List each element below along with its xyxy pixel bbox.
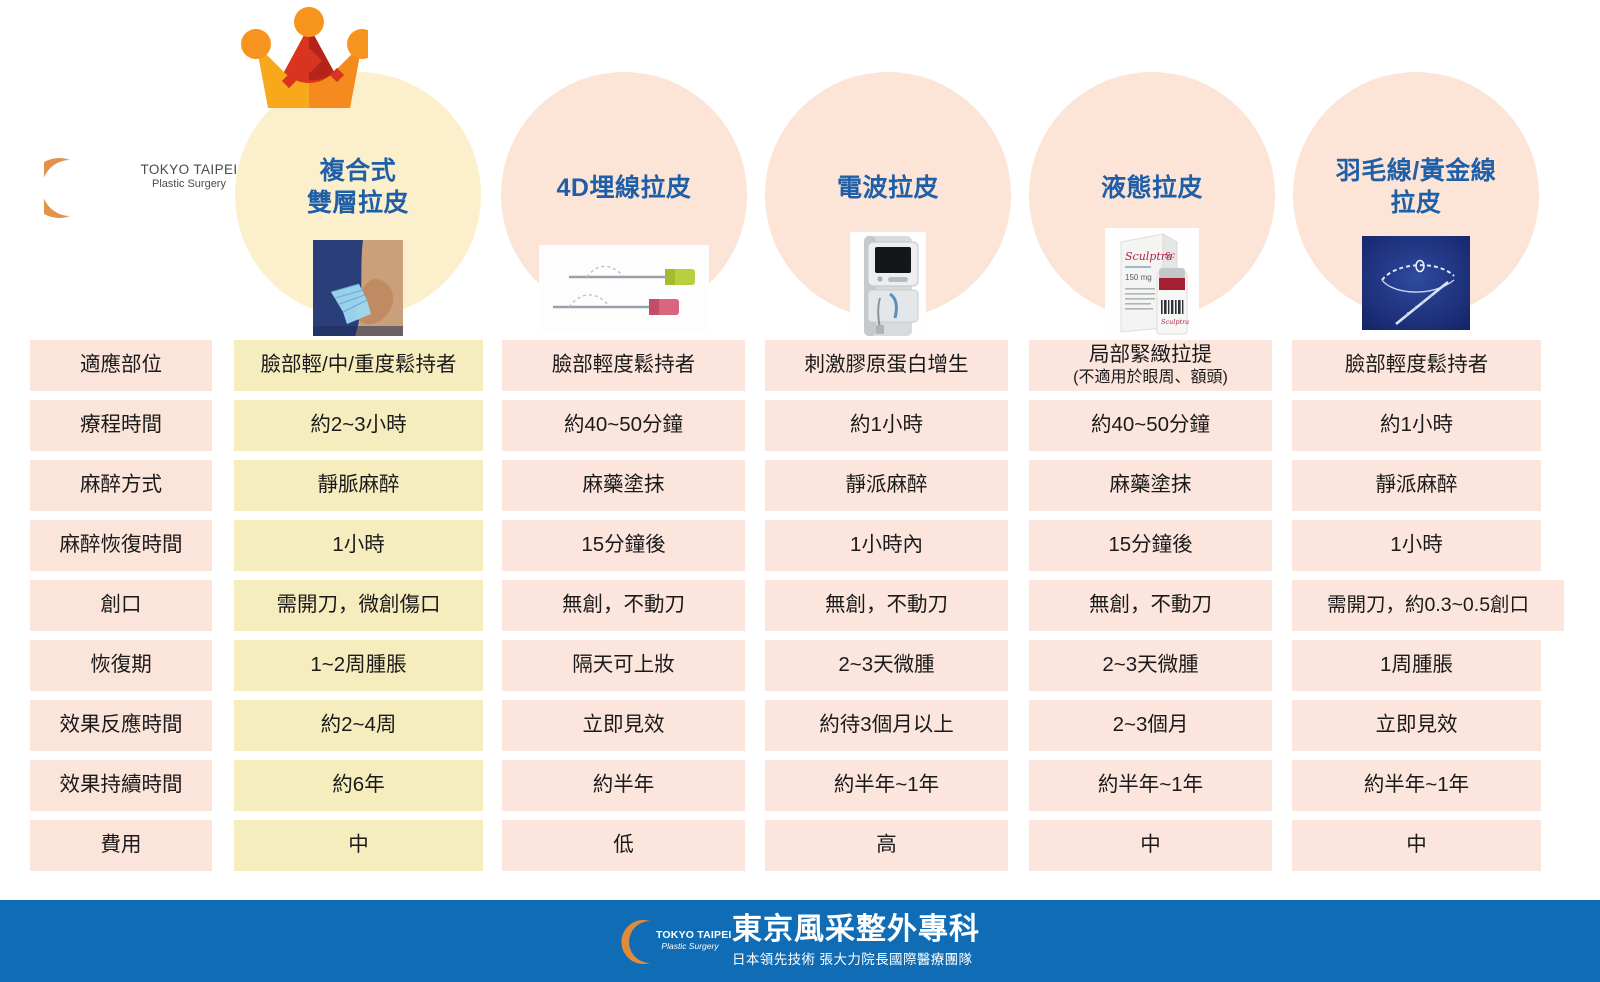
column-title-line-1: 複合式 bbox=[233, 155, 483, 187]
cell-r0-c3-main: 局部緊緻拉提 bbox=[1089, 343, 1212, 367]
cell-r7-c0: 約6年 bbox=[234, 760, 483, 811]
column-thumbnail-rf-machine-photo bbox=[850, 232, 926, 336]
column-title-line-1: 電波拉皮 bbox=[763, 172, 1013, 204]
row-label: 麻醉恢復時間 bbox=[30, 520, 212, 571]
column-header-4d-thread-lift[interactable]: 4D埋線拉皮 bbox=[492, 0, 756, 336]
cell-r5-c0: 1~2周腫脹 bbox=[234, 640, 483, 691]
table-row: 麻醉方式 靜脈麻醉 麻藥塗抹 靜派麻醉 麻藥塗抹 靜派麻醉 bbox=[0, 460, 1600, 520]
cell-r2-c0: 靜脈麻醉 bbox=[234, 460, 483, 511]
footer-title: 東京風采整外專科 bbox=[732, 914, 980, 946]
column-title: 4D埋線拉皮 bbox=[499, 172, 749, 204]
footer-logo-line1: TOKYO TAIPEI bbox=[656, 929, 724, 941]
cell-r8-c0: 中 bbox=[234, 820, 483, 871]
column-title: 複合式 雙層拉皮 bbox=[233, 155, 483, 219]
cell-r1-c1: 約40~50分鐘 bbox=[502, 400, 745, 451]
cell-r7-c2: 約半年~1年 bbox=[765, 760, 1008, 811]
row-label: 麻醉方式 bbox=[30, 460, 212, 511]
cell-r2-c1: 麻藥塗抹 bbox=[502, 460, 745, 511]
footer-logo: TOKYO TAIPEI Plastic Surgery bbox=[620, 911, 724, 971]
cell-r6-c4: 立即見效 bbox=[1292, 700, 1541, 751]
column-thumbnail-barbed-thread-photo bbox=[1362, 236, 1470, 330]
row-label: 適應部位 bbox=[30, 340, 212, 391]
cell-r0-c2: 刺激膠原蛋白增生 bbox=[765, 340, 1008, 391]
cell-r5-c4: 1周腫脹 bbox=[1292, 640, 1541, 691]
column-title: 電波拉皮 bbox=[763, 172, 1013, 204]
cell-r0-c4: 臉部輕度鬆持者 bbox=[1292, 340, 1541, 391]
cell-r0-c0: 臉部輕/中/重度鬆持者 bbox=[234, 340, 483, 391]
column-title-line-1: 液態拉皮 bbox=[1027, 172, 1277, 204]
cell-r6-c3: 2~3個月 bbox=[1029, 700, 1272, 751]
column-thumbnail-thread-needles-photo bbox=[539, 245, 709, 330]
cell-r8-c2: 高 bbox=[765, 820, 1008, 871]
column-title-line-2: 雙層拉皮 bbox=[233, 187, 483, 219]
column-title: 液態拉皮 bbox=[1027, 172, 1277, 204]
table-row: 費用 中 低 高 中 中 bbox=[0, 820, 1600, 880]
cell-r7-c4: 約半年~1年 bbox=[1292, 760, 1541, 811]
cell-r1-c4: 約1小時 bbox=[1292, 400, 1541, 451]
cell-r3-c3: 15分鐘後 bbox=[1029, 520, 1272, 571]
cell-r5-c3: 2~3天微腫 bbox=[1029, 640, 1272, 691]
footer-content: TOKYO TAIPEI Plastic Surgery 東京風采整外專科 日本… bbox=[620, 908, 980, 974]
clinic-logo: TOKYO TAIPEI Plastic Surgery bbox=[44, 140, 244, 236]
cell-r4-c1: 無創，不動刀 bbox=[502, 580, 745, 631]
cell-r3-c4: 1小時 bbox=[1292, 520, 1541, 571]
cell-r2-c4: 靜派麻醉 bbox=[1292, 460, 1541, 511]
cell-r2-c3: 麻藥塗抹 bbox=[1029, 460, 1272, 511]
cell-r6-c2: 約待3個月以上 bbox=[765, 700, 1008, 751]
table-row: 療程時間 約2~3小時 約40~50分鐘 約1小時 約40~50分鐘 約1小時 bbox=[0, 400, 1600, 460]
column-title: 羽毛線/黃金線 拉皮 bbox=[1291, 155, 1541, 219]
cell-r8-c3: 中 bbox=[1029, 820, 1272, 871]
column-title-line-1: 羽毛線/黃金線 bbox=[1291, 155, 1541, 187]
cell-r8-c1: 低 bbox=[502, 820, 745, 871]
row-label: 效果反應時間 bbox=[30, 700, 212, 751]
cell-r1-c2: 約1小時 bbox=[765, 400, 1008, 451]
footer-logo-text: TOKYO TAIPEI Plastic Surgery bbox=[656, 929, 724, 951]
header-section: TOKYO TAIPEI Plastic Surgery 複合式 雙層 bbox=[0, 0, 1600, 336]
table-row: 適應部位 臉部輕/中/重度鬆持者 臉部輕度鬆持者 刺激膠原蛋白增生 局部緊緻拉提… bbox=[0, 340, 1600, 400]
column-header-compound-double-layer-facelift[interactable]: 複合式 雙層拉皮 bbox=[226, 0, 490, 336]
table-row: 創口 需開刀，微創傷口 無創，不動刀 無創，不動刀 無創，不動刀 需開刀，約0.… bbox=[0, 580, 1600, 640]
cell-r3-c1: 15分鐘後 bbox=[502, 520, 745, 571]
cell-r6-c1: 立即見效 bbox=[502, 700, 745, 751]
cell-r0-c1: 臉部輕度鬆持者 bbox=[502, 340, 745, 391]
comparison-table: 適應部位 臉部輕/中/重度鬆持者 臉部輕度鬆持者 刺激膠原蛋白增生 局部緊緻拉提… bbox=[0, 340, 1600, 880]
row-label: 效果持續時間 bbox=[30, 760, 212, 811]
column-header-feather-gold-thread-lift[interactable]: 羽毛線/黃金線 拉皮 bbox=[1284, 0, 1548, 336]
cell-r0-c3-sub: (不適用於眼周、額頭) bbox=[1073, 369, 1228, 388]
svg-text:150 mg: 150 mg bbox=[1125, 273, 1152, 282]
svg-text:Sculptra: Sculptra bbox=[1161, 318, 1189, 326]
cell-r0-c3: 局部緊緻拉提 (不適用於眼周、額頭) bbox=[1029, 340, 1272, 391]
footer-subtitle: 日本領先技術 張大力院長國際醫療團隊 bbox=[732, 948, 980, 968]
cell-r5-c2: 2~3天微腫 bbox=[765, 640, 1008, 691]
infographic-page: TOKYO TAIPEI Plastic Surgery 複合式 雙層 bbox=[0, 0, 1600, 982]
table-row: 恢復期 1~2周腫脹 隔天可上妝 2~3天微腫 2~3天微腫 1周腫脹 bbox=[0, 640, 1600, 700]
row-label: 費用 bbox=[30, 820, 212, 871]
row-label: 恢復期 bbox=[30, 640, 212, 691]
cell-r4-c2: 無創，不動刀 bbox=[765, 580, 1008, 631]
cell-r4-c4: 需開刀，約0.3~0.5創口 bbox=[1292, 580, 1564, 631]
row-label: 療程時間 bbox=[30, 400, 212, 451]
cell-r7-c1: 約半年 bbox=[502, 760, 745, 811]
footer-text-block: 東京風采整外專科 日本領先技術 張大力院長國際醫療團隊 bbox=[732, 914, 980, 969]
double-crescent-logo-icon bbox=[44, 144, 132, 228]
cell-r2-c2: 靜派麻醉 bbox=[765, 460, 1008, 511]
cell-r6-c0: 約2~4周 bbox=[234, 700, 483, 751]
cell-r4-c3: 無創，不動刀 bbox=[1029, 580, 1272, 631]
footer-bar: TOKYO TAIPEI Plastic Surgery 東京風采整外專科 日本… bbox=[0, 900, 1600, 982]
column-header-thermage-rf-lift[interactable]: 電波拉皮 bbox=[756, 0, 1020, 336]
column-title-line-1: 4D埋線拉皮 bbox=[499, 172, 749, 204]
row-label: 創口 bbox=[30, 580, 212, 631]
cell-r5-c1: 隔天可上妝 bbox=[502, 640, 745, 691]
table-row: 效果持續時間 約6年 約半年 約半年~1年 約半年~1年 約半年~1年 bbox=[0, 760, 1600, 820]
cell-r3-c0: 1小時 bbox=[234, 520, 483, 571]
table-row: 效果反應時間 約2~4周 立即見效 約待3個月以上 2~3個月 立即見效 bbox=[0, 700, 1600, 760]
column-title-line-2: 拉皮 bbox=[1291, 187, 1541, 219]
cell-r7-c3: 約半年~1年 bbox=[1029, 760, 1272, 811]
column-thumbnail-sculptra-vial-photo: Sculptra Sc 150 mg bbox=[1105, 228, 1199, 336]
cell-r1-c0: 約2~3小時 bbox=[234, 400, 483, 451]
cell-r4-c0: 需開刀，微創傷口 bbox=[234, 580, 483, 631]
crown-icon bbox=[238, 0, 368, 112]
column-header-liquid-facelift[interactable]: 液態拉皮 Sculptra Sc 150 mg bbox=[1020, 0, 1284, 336]
svg-text:Sc: Sc bbox=[1165, 251, 1175, 260]
cell-r3-c2: 1小時內 bbox=[765, 520, 1008, 571]
column-thumbnail-implant-device-photo bbox=[313, 240, 403, 336]
table-row: 麻醉恢復時間 1小時 15分鐘後 1小時內 15分鐘後 1小時 bbox=[0, 520, 1600, 580]
cell-r1-c3: 約40~50分鐘 bbox=[1029, 400, 1272, 451]
cell-r8-c4: 中 bbox=[1292, 820, 1541, 871]
footer-logo-line2: Plastic Surgery bbox=[656, 941, 724, 951]
